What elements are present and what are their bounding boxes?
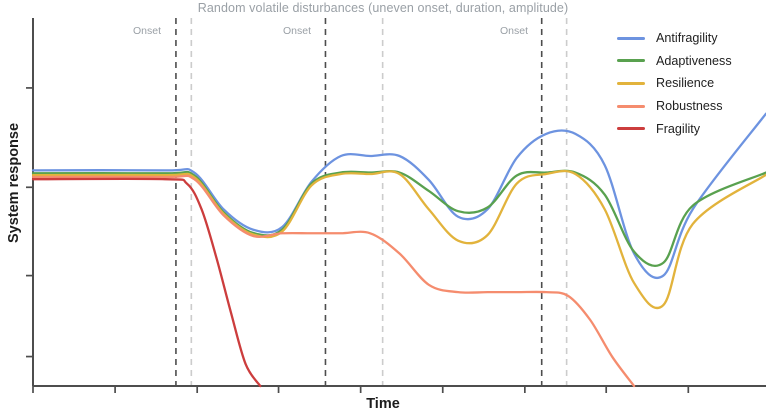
legend-item-resilience[interactable]: Resilience — [617, 72, 732, 95]
legend-label: Adaptiveness — [656, 54, 732, 68]
series-lines — [33, 114, 766, 386]
legend-swatch-icon — [617, 127, 645, 130]
legend-swatch-icon — [617, 105, 645, 108]
legend-swatch-icon — [617, 37, 645, 40]
chart-canvas: Random volatile disturbances (uneven ons… — [0, 0, 766, 419]
y-axis-title: System response — [6, 83, 22, 283]
chart-legend: AntifragilityAdaptivenessResilienceRobus… — [617, 27, 732, 140]
legend-label: Resilience — [656, 76, 714, 90]
legend-item-robustness[interactable]: Robustness — [617, 95, 732, 118]
disturbance-guide-lines — [176, 18, 567, 386]
legend-item-fragility[interactable]: Fragility — [617, 117, 732, 140]
onset-label-2: Onset — [283, 25, 311, 37]
legend-swatch-icon — [617, 82, 645, 85]
legend-label: Robustness — [656, 99, 723, 113]
onset-label-1: Onset — [133, 25, 161, 37]
legend-label: Antifragility — [656, 31, 718, 45]
legend-item-adaptiveness[interactable]: Adaptiveness — [617, 50, 732, 73]
legend-item-antifragility[interactable]: Antifragility — [617, 27, 732, 50]
onset-label-3: Onset — [500, 25, 528, 37]
axis-ticks — [26, 88, 688, 393]
legend-label: Fragility — [656, 122, 700, 136]
legend-swatch-icon — [617, 59, 645, 62]
x-axis-title: Time — [0, 396, 766, 412]
